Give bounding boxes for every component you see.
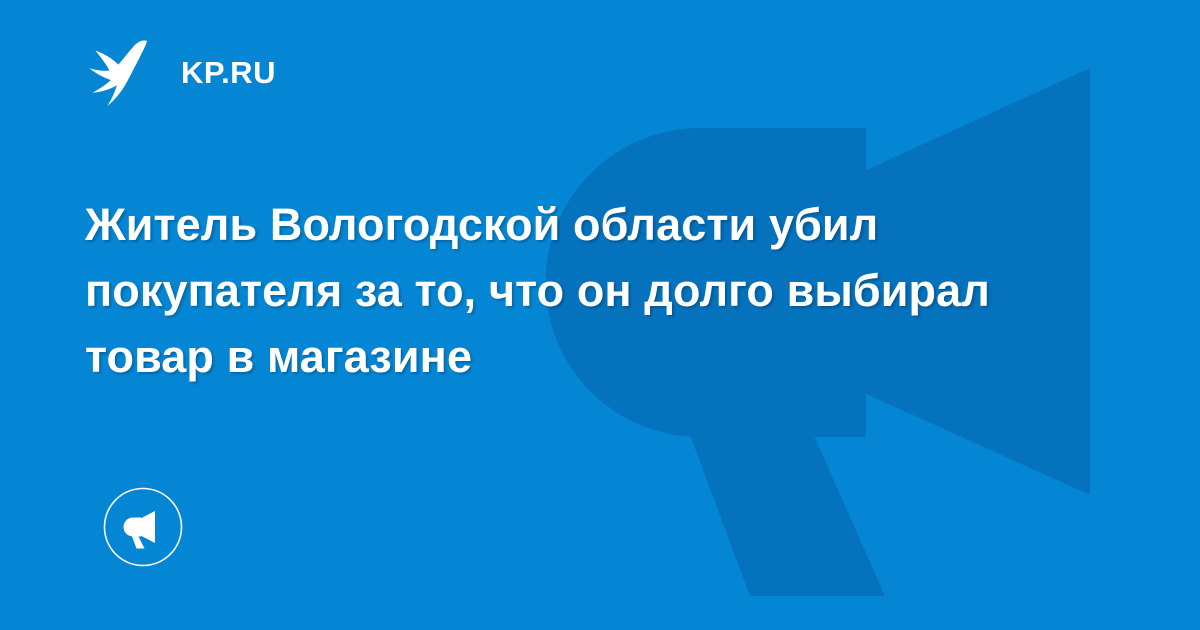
site-header: KP.RU bbox=[85, 34, 276, 110]
megaphone-icon bbox=[103, 487, 183, 567]
swallow-bird-icon[interactable] bbox=[85, 35, 159, 109]
megaphone-badge[interactable] bbox=[103, 487, 183, 567]
brand-name: KP.RU bbox=[181, 57, 276, 88]
share-card: KP.RU Житель Вологодской области убил по… bbox=[0, 0, 1200, 630]
page-title: Житель Вологодской области убил покупате… bbox=[85, 192, 1085, 390]
